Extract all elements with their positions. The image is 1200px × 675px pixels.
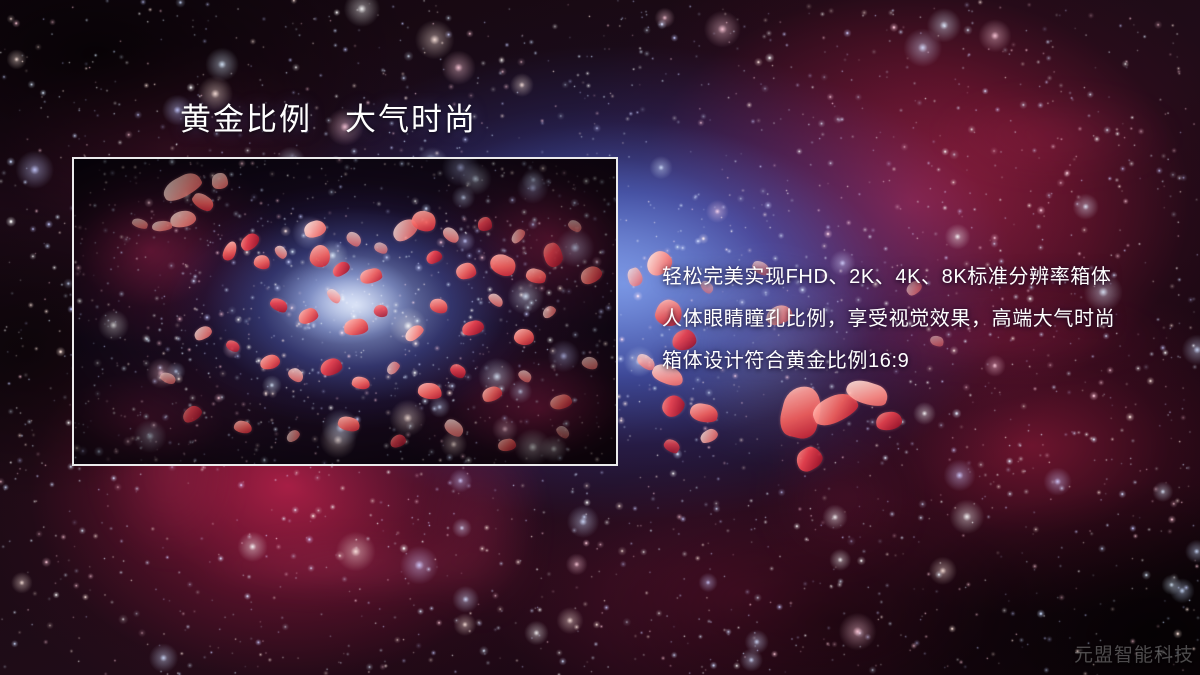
petal (268, 295, 290, 314)
petal (478, 217, 492, 231)
petal (384, 360, 401, 377)
photo-petals (74, 159, 616, 464)
petal (658, 391, 688, 420)
page-title: 黄金比例 大气时尚 (180, 100, 477, 140)
petal (516, 368, 533, 384)
petal (259, 353, 281, 370)
body-text-block: 轻松完美实现FHD、2K、4K、8K标准分辨率箱体 人体眼睛瞳孔比例，享受视觉效… (662, 256, 1142, 382)
petal (131, 217, 149, 231)
petal (180, 403, 204, 425)
petal (192, 324, 213, 342)
petal (480, 384, 504, 404)
petal (389, 433, 408, 449)
body-line-3: 箱体设计符合黄金比例16:9 (662, 340, 1142, 382)
body-line-1: 轻松完美实现FHD、2K、4K、8K标准分辨率箱体 (662, 256, 1142, 298)
petal (626, 266, 645, 287)
petal (318, 356, 344, 378)
photo-frame (72, 157, 618, 466)
petal (190, 190, 216, 214)
petal (343, 318, 369, 336)
petal (351, 375, 371, 391)
watermark-label: 元盟智能科技 (1074, 640, 1194, 667)
petal (409, 207, 438, 234)
petal (662, 437, 682, 456)
petal (809, 388, 862, 430)
petal (309, 244, 332, 269)
slide-canvas: 黄金比例 大气时尚 轻松完美实现FHD、2K、4K、8K标准分辨率箱体 人体眼睛… (0, 0, 1200, 675)
petal (487, 291, 506, 309)
petal (417, 381, 443, 400)
petal (428, 296, 450, 316)
petal (487, 250, 519, 280)
petal (402, 322, 425, 343)
petal (688, 401, 719, 424)
petal (160, 169, 205, 205)
photo-starfield (74, 159, 618, 466)
petal (525, 267, 548, 285)
petal (344, 229, 364, 248)
petal (389, 215, 421, 244)
petal (698, 427, 719, 446)
petal (424, 248, 443, 265)
petal (554, 424, 571, 441)
petal (578, 263, 605, 287)
photo-nebula (74, 159, 616, 464)
petal (776, 382, 825, 442)
petal (442, 417, 466, 440)
petal (253, 253, 272, 270)
petal (566, 218, 583, 234)
petal (372, 303, 389, 319)
petal (497, 438, 516, 452)
petal (302, 218, 328, 240)
photo-vignette (74, 159, 616, 464)
petal (455, 262, 477, 281)
petal (325, 287, 343, 306)
petal (634, 351, 657, 373)
petal (540, 304, 557, 321)
petal (330, 259, 352, 278)
petal (296, 306, 320, 326)
petal (440, 224, 461, 245)
petal (224, 338, 241, 354)
petal (513, 328, 535, 346)
petal (875, 410, 903, 431)
petal (373, 240, 390, 255)
petal (238, 230, 262, 254)
petal (159, 370, 178, 386)
petal (580, 355, 599, 372)
petal (792, 443, 826, 475)
body-line-2: 人体眼睛瞳孔比例，享受视觉效果，高端大气时尚 (662, 298, 1142, 340)
petal (221, 239, 240, 262)
petal (509, 227, 527, 245)
petal (233, 420, 253, 435)
petal (461, 319, 486, 338)
petal (273, 243, 290, 260)
petal (286, 365, 306, 385)
petal (549, 393, 573, 411)
petal (336, 414, 361, 434)
petal (284, 428, 301, 444)
petal (541, 241, 565, 269)
petal (448, 362, 468, 381)
petal (212, 173, 228, 189)
petal (152, 220, 173, 232)
petal (169, 209, 197, 229)
petal (359, 267, 383, 285)
